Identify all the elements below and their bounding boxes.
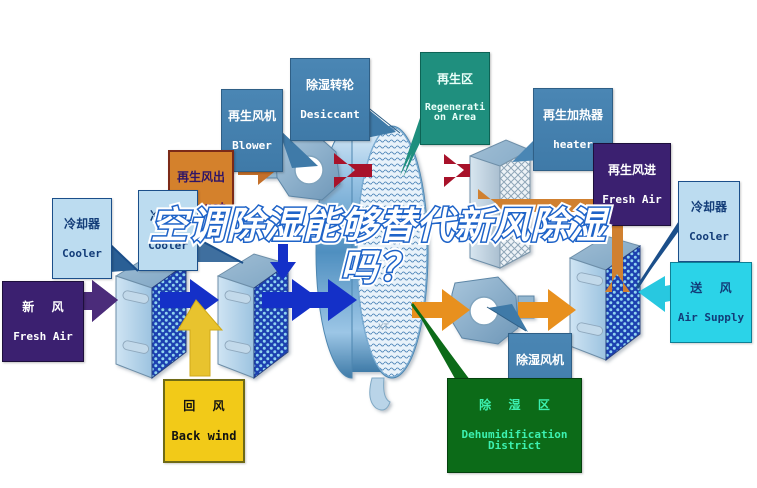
label-regen-blower-cn: 再生风机 (226, 110, 278, 123)
label-dehumidification-district[interactable]: 除 湿 区 Dehumidification District (447, 378, 582, 473)
label-cooler-middle[interactable]: 冷却器 Cooler (138, 190, 198, 271)
label-fresh-air-in-en: Fresh Air (6, 331, 80, 343)
diagram-canvas: XT (0, 0, 757, 488)
callout-leader-lines (0, 0, 757, 488)
label-dehum-district-en: Dehumidification District (452, 429, 577, 452)
label-cooler-middle-en: Cooler (142, 240, 194, 252)
label-air-supply-en: Air Supply (674, 312, 748, 324)
label-dehum-blower-cn: 除湿风机 (513, 354, 567, 367)
label-regeneration-area[interactable]: 再生区 Regenerati on Area (420, 52, 490, 145)
label-cooler-left[interactable]: 冷却器 Cooler (52, 198, 112, 279)
label-desiccant-wheel-cn: 除湿转轮 (295, 79, 365, 92)
label-dehum-district-cn: 除 湿 区 (452, 399, 584, 412)
label-desiccant-wheel[interactable]: 除湿转轮 Desiccant (290, 58, 370, 141)
label-regeneration-area-en: Regenerati on Area (424, 103, 486, 124)
label-fresh-air-in[interactable]: 新 风 Fresh Air (2, 281, 84, 362)
label-back-wind-en: Back wind (168, 430, 240, 443)
label-air-supply[interactable]: 送 风 Air Supply (670, 262, 752, 343)
label-regen-heater-cn: 再生加热器 (538, 109, 608, 122)
label-regen-fresh-air-cn: 再生风进 (598, 164, 666, 177)
label-fresh-air-in-cn: 新 风 (6, 301, 87, 314)
label-back-wind-cn: 回 风 (168, 400, 247, 413)
label-desiccant-wheel-en: Desiccant (295, 109, 365, 121)
label-regen-fresh-air[interactable]: 再生风进 Fresh Air (593, 143, 671, 226)
label-cooler-left-cn: 冷却器 (56, 218, 108, 231)
label-cooler-middle-cn: 冷却器 (142, 210, 194, 223)
label-cooler-right-cn: 冷却器 (682, 201, 736, 214)
label-cooler-right-en: Cooler (682, 231, 736, 243)
label-back-wind[interactable]: 回 风 Back wind (163, 379, 245, 463)
label-air-supply-cn: 送 风 (674, 282, 755, 295)
label-regen-exhaust-cn: 再生风出 (173, 171, 229, 184)
label-regeneration-area-cn: 再生区 (424, 73, 486, 86)
label-cooler-right[interactable]: 冷却器 Cooler (678, 181, 740, 262)
label-regen-fresh-air-en: Fresh Air (598, 194, 666, 206)
label-cooler-left-en: Cooler (56, 248, 108, 260)
